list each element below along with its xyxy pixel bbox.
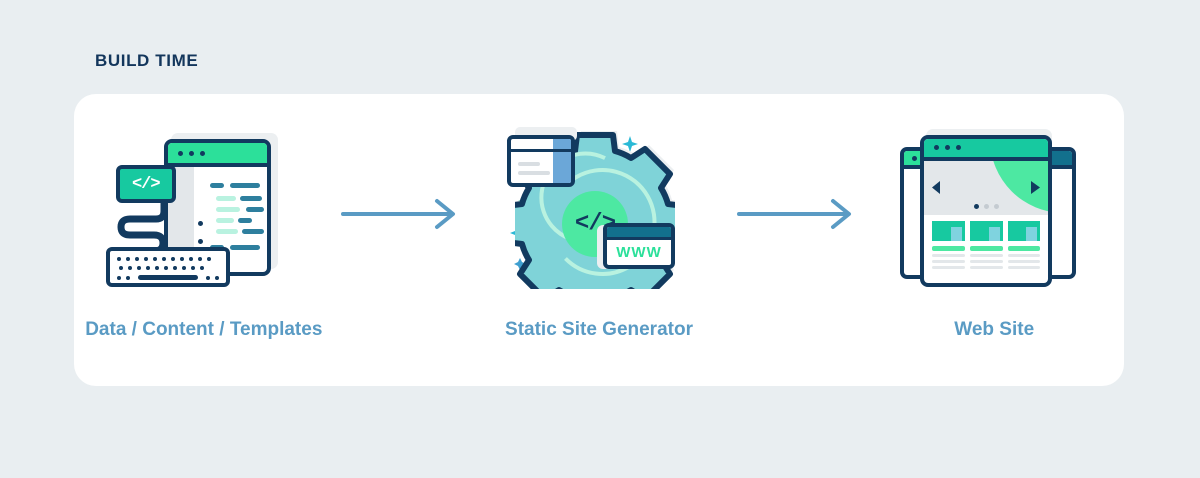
content-card: [932, 221, 965, 269]
carousel-next-icon[interactable]: [1031, 181, 1040, 194]
arrow-1-wrap: [334, 115, 470, 365]
card-line: [518, 162, 540, 166]
window-titlebar: [168, 143, 267, 167]
card-image: [970, 221, 1003, 241]
front-window: [920, 135, 1052, 287]
card-text-line: [1008, 266, 1041, 269]
card-text-line: [932, 266, 965, 269]
code-line: [230, 245, 260, 250]
content-card: [970, 221, 1003, 269]
card-title-bar: [970, 246, 1003, 251]
carousel-prev-icon[interactable]: [932, 181, 941, 194]
stage-data-content-templates: </>: [74, 115, 334, 365]
code-line: [240, 196, 262, 201]
code-line: [246, 207, 264, 212]
arrow-right-icon: [737, 197, 857, 231]
window-dot: [956, 145, 961, 150]
window-dot: [945, 145, 950, 150]
browser-windows-icon: [894, 121, 1094, 301]
card-title-bar: [1008, 246, 1041, 251]
card-text-line: [1008, 254, 1041, 257]
stage-label-static-site-generator: Static Site Generator: [505, 319, 693, 341]
content-card: [1008, 221, 1041, 269]
carousel-dot[interactable]: [984, 204, 989, 209]
code-line: [216, 196, 236, 201]
page-title: BUILD TIME: [95, 52, 198, 69]
card-image: [1008, 221, 1041, 241]
card-text-line: [932, 260, 965, 263]
card-text-line: [932, 254, 965, 257]
www-card-label: WWW: [607, 240, 671, 265]
code-line: [238, 218, 252, 223]
card-text-line: [970, 266, 1003, 269]
www-card-header: [607, 227, 671, 240]
keyboard-icon: [106, 247, 230, 287]
flow-container: </>: [74, 94, 1124, 386]
www-card: WWW: [603, 223, 675, 269]
card-title-bar: [932, 246, 965, 251]
code-line: [216, 207, 240, 212]
card-image: [932, 221, 965, 241]
content-cards: [924, 215, 1048, 269]
arrow-right-icon: [341, 197, 461, 231]
card-text-line: [970, 254, 1003, 257]
carousel-dot-active[interactable]: [974, 204, 979, 209]
diagram-page: BUILD TIME: [0, 0, 1200, 478]
template-card: [507, 135, 575, 187]
stage-label-web-site: Web Site: [954, 319, 1034, 341]
arrow-2-wrap: [729, 115, 865, 365]
code-line: [216, 229, 238, 234]
window-dot: [189, 151, 194, 156]
gear-icon: </> WWW: [499, 121, 699, 301]
stage-web-site: Web Site: [864, 115, 1124, 365]
card-header: [511, 139, 571, 152]
hero-carousel: [924, 161, 1048, 215]
flow-panel: </>: [74, 94, 1124, 386]
card-text-line: [1008, 260, 1041, 263]
carousel-dots: [924, 204, 1048, 209]
code-editor-keyboard-icon: </>: [104, 121, 304, 301]
stage-label-data-content-templates: Data / Content / Templates: [85, 319, 322, 341]
window-titlebar: [924, 139, 1048, 161]
window-dot: [200, 151, 205, 156]
gutter-bullet: [198, 221, 203, 226]
code-line: [210, 183, 224, 188]
code-badge: </>: [116, 165, 176, 203]
gutter-bullet: [198, 239, 203, 244]
window-dot: [912, 156, 917, 161]
card-text-line: [970, 260, 1003, 263]
code-line: [230, 183, 260, 188]
code-line: [216, 218, 234, 223]
stage-static-site-generator: </> WWW: [469, 115, 729, 365]
window-dot: [934, 145, 939, 150]
code-line: [242, 229, 264, 234]
carousel-dot[interactable]: [994, 204, 999, 209]
card-line: [518, 171, 550, 175]
window-dot: [178, 151, 183, 156]
